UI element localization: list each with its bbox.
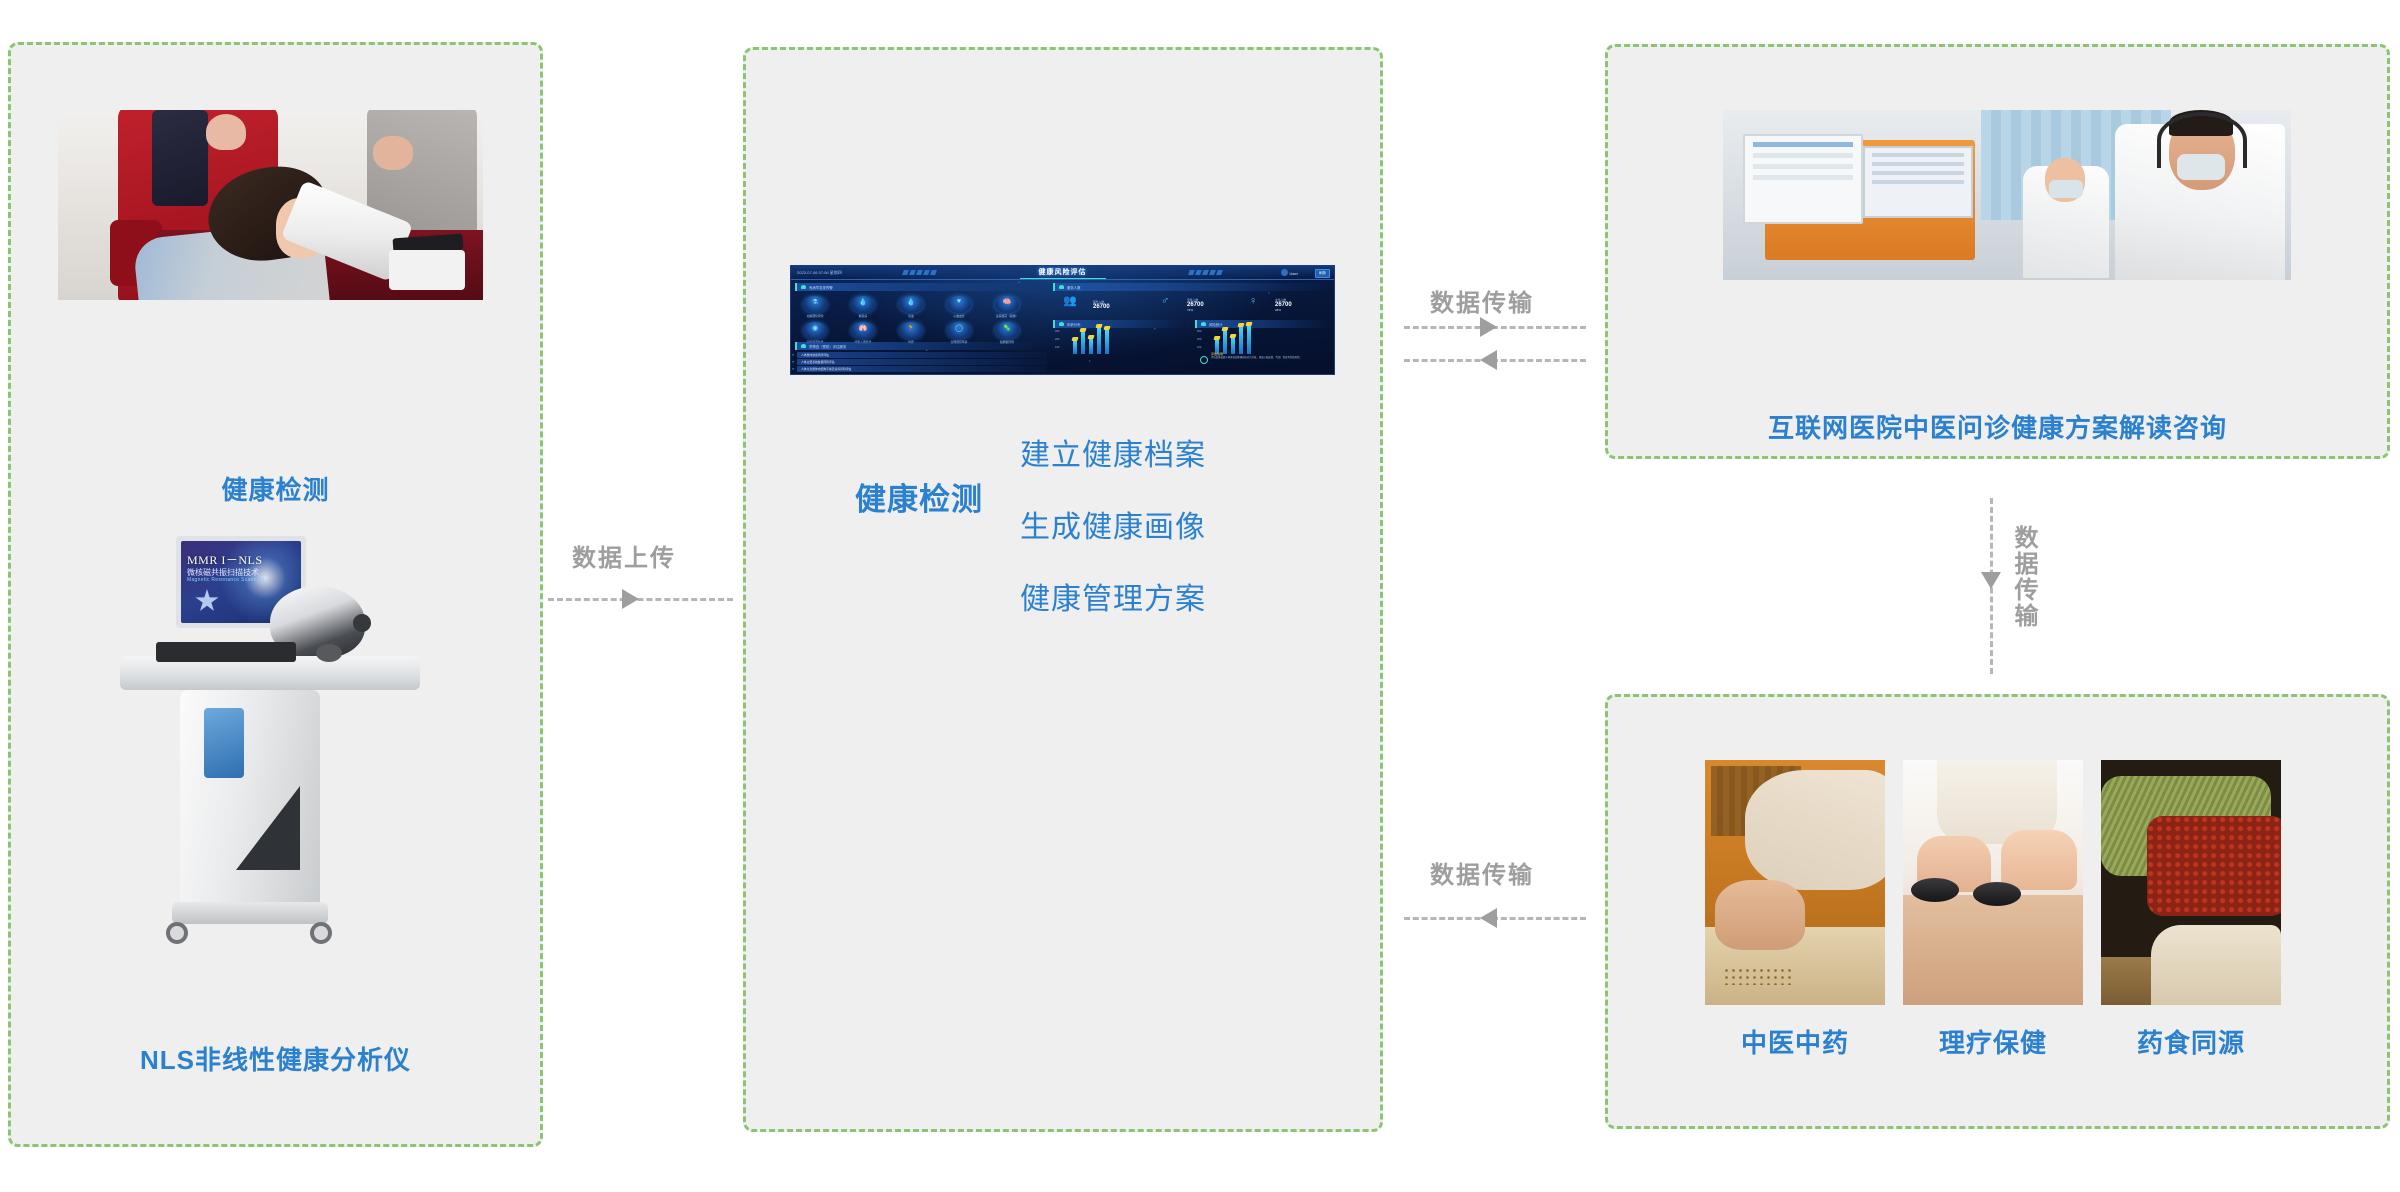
cloud-icon — [1059, 285, 1064, 289]
center-feature-list: 建立健康档案 生成健康画像 健康管理方案 — [1020, 420, 1206, 636]
section-label-people: 服务人数 — [1067, 285, 1081, 290]
risk-icon-label: 心脑血管 — [943, 314, 975, 318]
info-card-text: 评估结果依据人体多维度健康指标综合分析，涵盖心脑血管、代谢、免疫等系统风险。 — [1211, 356, 1302, 359]
stat-female-value: 女性人数 26700 26% — [1275, 298, 1292, 312]
nls-screen-english: Magnetic Resonance Scanning — [187, 577, 264, 583]
section-label-service: 早筛查（预防）评估服务 — [809, 344, 846, 349]
photo-nls-analyzer: MMR I－NLS 微核磁共振扫描技术 Magnetic Resonance S… — [120, 530, 420, 980]
caption-physiotherapy: 理疗保健 — [1903, 1023, 2083, 1060]
cloud-icon — [801, 285, 806, 289]
photo-hand — [206, 114, 246, 150]
dashboard-datetime: 2023-07-06 07:06 星期四 — [797, 270, 842, 276]
arrow-head-right-icon — [1480, 317, 1497, 337]
center-feature-item: 健康管理方案 — [1020, 564, 1206, 636]
chevron-right-icon: » — [792, 359, 794, 364]
risk-icon-0[interactable]: ⚗动脉硬化风险 — [799, 296, 831, 318]
risk-axis-tick: 200 — [1197, 338, 1201, 341]
age-bar-chart — [1073, 328, 1109, 354]
stat-male-value: 男性人数 26700 74% — [1187, 298, 1204, 312]
section-header-age: 年龄分布 — [1053, 320, 1183, 328]
arrow-label-data-transfer-bottom: 数据传输 — [1430, 855, 1534, 890]
section-header-stats: 风险统计 — [1195, 320, 1331, 328]
header-chevrons-left-icon — [903, 270, 936, 275]
section-header-service: 早筛查（预防）评估服务 — [795, 342, 1043, 350]
stat-pct: 26% — [1275, 308, 1292, 312]
photo-grey-hand — [373, 136, 413, 170]
age-axis-tick: 100 — [1055, 346, 1059, 349]
photo-nurse-mask — [2049, 180, 2083, 198]
arrow-head-left-icon — [1480, 350, 1497, 370]
cloud-icon — [1059, 322, 1064, 326]
service-list-label: 人体整体健康风险评估 — [801, 353, 829, 357]
section-header-risk: 有病早发现预警 — [795, 283, 1043, 291]
photo-medicinal-food — [2101, 760, 2281, 1005]
cloud-icon — [801, 344, 806, 348]
nls-wheel-right — [310, 922, 332, 944]
risk-icon-9[interactable]: 🦠脏腑脏风险 — [991, 322, 1023, 344]
stat-male: ♂ — [1161, 296, 1169, 307]
female-icon: ♀ — [1249, 295, 1257, 307]
nls-tower — [180, 690, 320, 910]
nls-wheel-left — [166, 922, 188, 944]
photo-monitor-left — [1743, 134, 1863, 224]
section-label-age: 年龄分布 — [1067, 322, 1081, 327]
center-feature-item: 建立健康档案 — [1020, 420, 1206, 492]
photo-device-box — [389, 250, 465, 290]
arrow-label-data-upload: 数据上传 — [572, 538, 676, 573]
caption-medicinal-food: 药食同源 — [2101, 1023, 2281, 1060]
dashboard-frame: 2023-07-06 07:06 星期四 健康风险评估 User 刷新 有病早发… — [790, 265, 1335, 375]
people-icon: 👥 — [1063, 295, 1077, 307]
dashboard-screenshot: 2023-07-06 07:06 星期四 健康风险评估 User 刷新 有病早发… — [790, 265, 1335, 375]
section-label-risk: 有病早发现预警 — [809, 285, 833, 290]
risk-icon-2[interactable]: 💧贫血 — [895, 296, 927, 318]
infographic-canvas: 健康检测 MMR I－NLS 微核磁共振扫描技术 Magnetic Resona… — [0, 0, 2400, 1192]
dashboard-refresh-button[interactable]: 刷新 — [1315, 269, 1330, 278]
nls-keyboard — [156, 642, 296, 662]
nls-mouse — [316, 644, 342, 662]
age-axis-tick: 300 — [1055, 330, 1059, 333]
risk-icon-label: 贫血 — [895, 314, 927, 318]
nls-base — [172, 902, 328, 924]
service-list-label: 人体全身整体内结构平衡及营养风险评估 — [801, 367, 851, 371]
star-icon — [195, 589, 219, 613]
risk-icon-4[interactable]: 🧠泌尿器官（尿酸） — [991, 296, 1023, 318]
risk-bar-chart — [1215, 328, 1251, 354]
age-axis-tick: 200 — [1055, 338, 1059, 341]
risk-icon-7[interactable]: 🏃体质 — [895, 322, 927, 344]
info-dot-icon — [1200, 356, 1208, 364]
center-label-health-detection: 健康检测 — [855, 474, 983, 519]
risk-axis-tick: 100 — [1197, 346, 1201, 349]
service-list-label: 人体主要系统脏器风险评估 — [801, 360, 835, 364]
photo-physiotherapy — [1903, 760, 2083, 1005]
cloud-icon — [1201, 322, 1206, 326]
photo-doctor-mask — [2177, 154, 2225, 180]
stat-pct: 74% — [1187, 308, 1204, 312]
title-underline — [1020, 278, 1106, 279]
stat-total-people-value: 服务人数 26700 — [1093, 300, 1110, 310]
dashed-line — [548, 598, 733, 601]
nls-tower-panel — [204, 708, 244, 778]
header-chevrons-right-icon — [1189, 270, 1222, 275]
arrow-head-right-icon — [622, 589, 639, 609]
dashboard-user-name: User — [1290, 271, 1298, 276]
male-icon: ♂ — [1161, 295, 1169, 307]
photo-monitor-right — [1863, 146, 1973, 218]
risk-icon-1[interactable]: 💧糖尿病 — [847, 296, 879, 318]
caption-nls-analyzer: NLS非线性健康分析仪 — [8, 1040, 543, 1077]
service-list-item[interactable]: »人体整体健康风险评估 — [797, 352, 1047, 358]
dashboard-title: 健康风险评估 — [1039, 267, 1087, 277]
avatar — [1281, 269, 1288, 276]
caption-health-detection: 健康检测 — [8, 470, 543, 507]
arrow-label-data-transfer-vertical: 数据传输 — [2006, 525, 2041, 629]
caption-internet-hospital: 互联网医院中医问诊健康方案解读咨询 — [1605, 408, 2390, 445]
photo-internet-hospital — [1723, 110, 2291, 280]
caption-tcm-herbs: 中医中药 — [1705, 1023, 1885, 1060]
nls-tower-accent — [236, 786, 300, 870]
stat-total-people: 👥 — [1063, 296, 1077, 307]
dashboard-user[interactable]: User — [1281, 269, 1298, 276]
section-label-stats: 风险统计 — [1209, 322, 1223, 327]
arrow-head-down-icon — [1981, 572, 2001, 589]
risk-axis-tick: 300 — [1197, 330, 1201, 333]
stat-female: ♀ — [1249, 296, 1257, 307]
risk-icon-label: 动脉硬化风险 — [799, 314, 831, 318]
info-card: 评估说明评估结果依据人体多维度健康指标综合分析，涵盖心脑血管、代谢、免疫等系统风… — [1200, 352, 1330, 372]
service-list-item[interactable]: »人体全身整体内结构平衡及营养风险评估 — [797, 366, 1047, 372]
risk-icon-label: 糖尿病 — [847, 314, 879, 318]
chevron-right-icon: » — [792, 352, 794, 357]
risk-icon-3[interactable]: ♥心脑血管 — [943, 296, 975, 318]
arrow-head-left-icon — [1480, 908, 1497, 928]
photo-health-check — [58, 110, 483, 300]
stat-value: 26700 — [1093, 304, 1110, 310]
risk-icon-8[interactable]: ◯生理器官年龄 — [943, 322, 975, 344]
arrow-label-data-transfer-top: 数据传输 — [1430, 283, 1534, 318]
photo-tcm-herbs — [1705, 760, 1885, 1005]
risk-icon-6[interactable]: 🫁呼吸入器检查 — [847, 322, 879, 344]
center-feature-item: 生成健康画像 — [1020, 492, 1206, 564]
section-header-people: 服务人数 — [1053, 283, 1331, 291]
risk-icon-5[interactable]: ◉营养状况分析 — [799, 322, 831, 344]
service-list-item[interactable]: »人体主要系统脏器风险评估 — [797, 359, 1047, 365]
nls-screen-title: MMR I－NLS — [187, 551, 263, 568]
risk-icon-label: 泌尿器官（尿酸） — [991, 314, 1023, 318]
chevron-right-icon: » — [792, 366, 794, 371]
